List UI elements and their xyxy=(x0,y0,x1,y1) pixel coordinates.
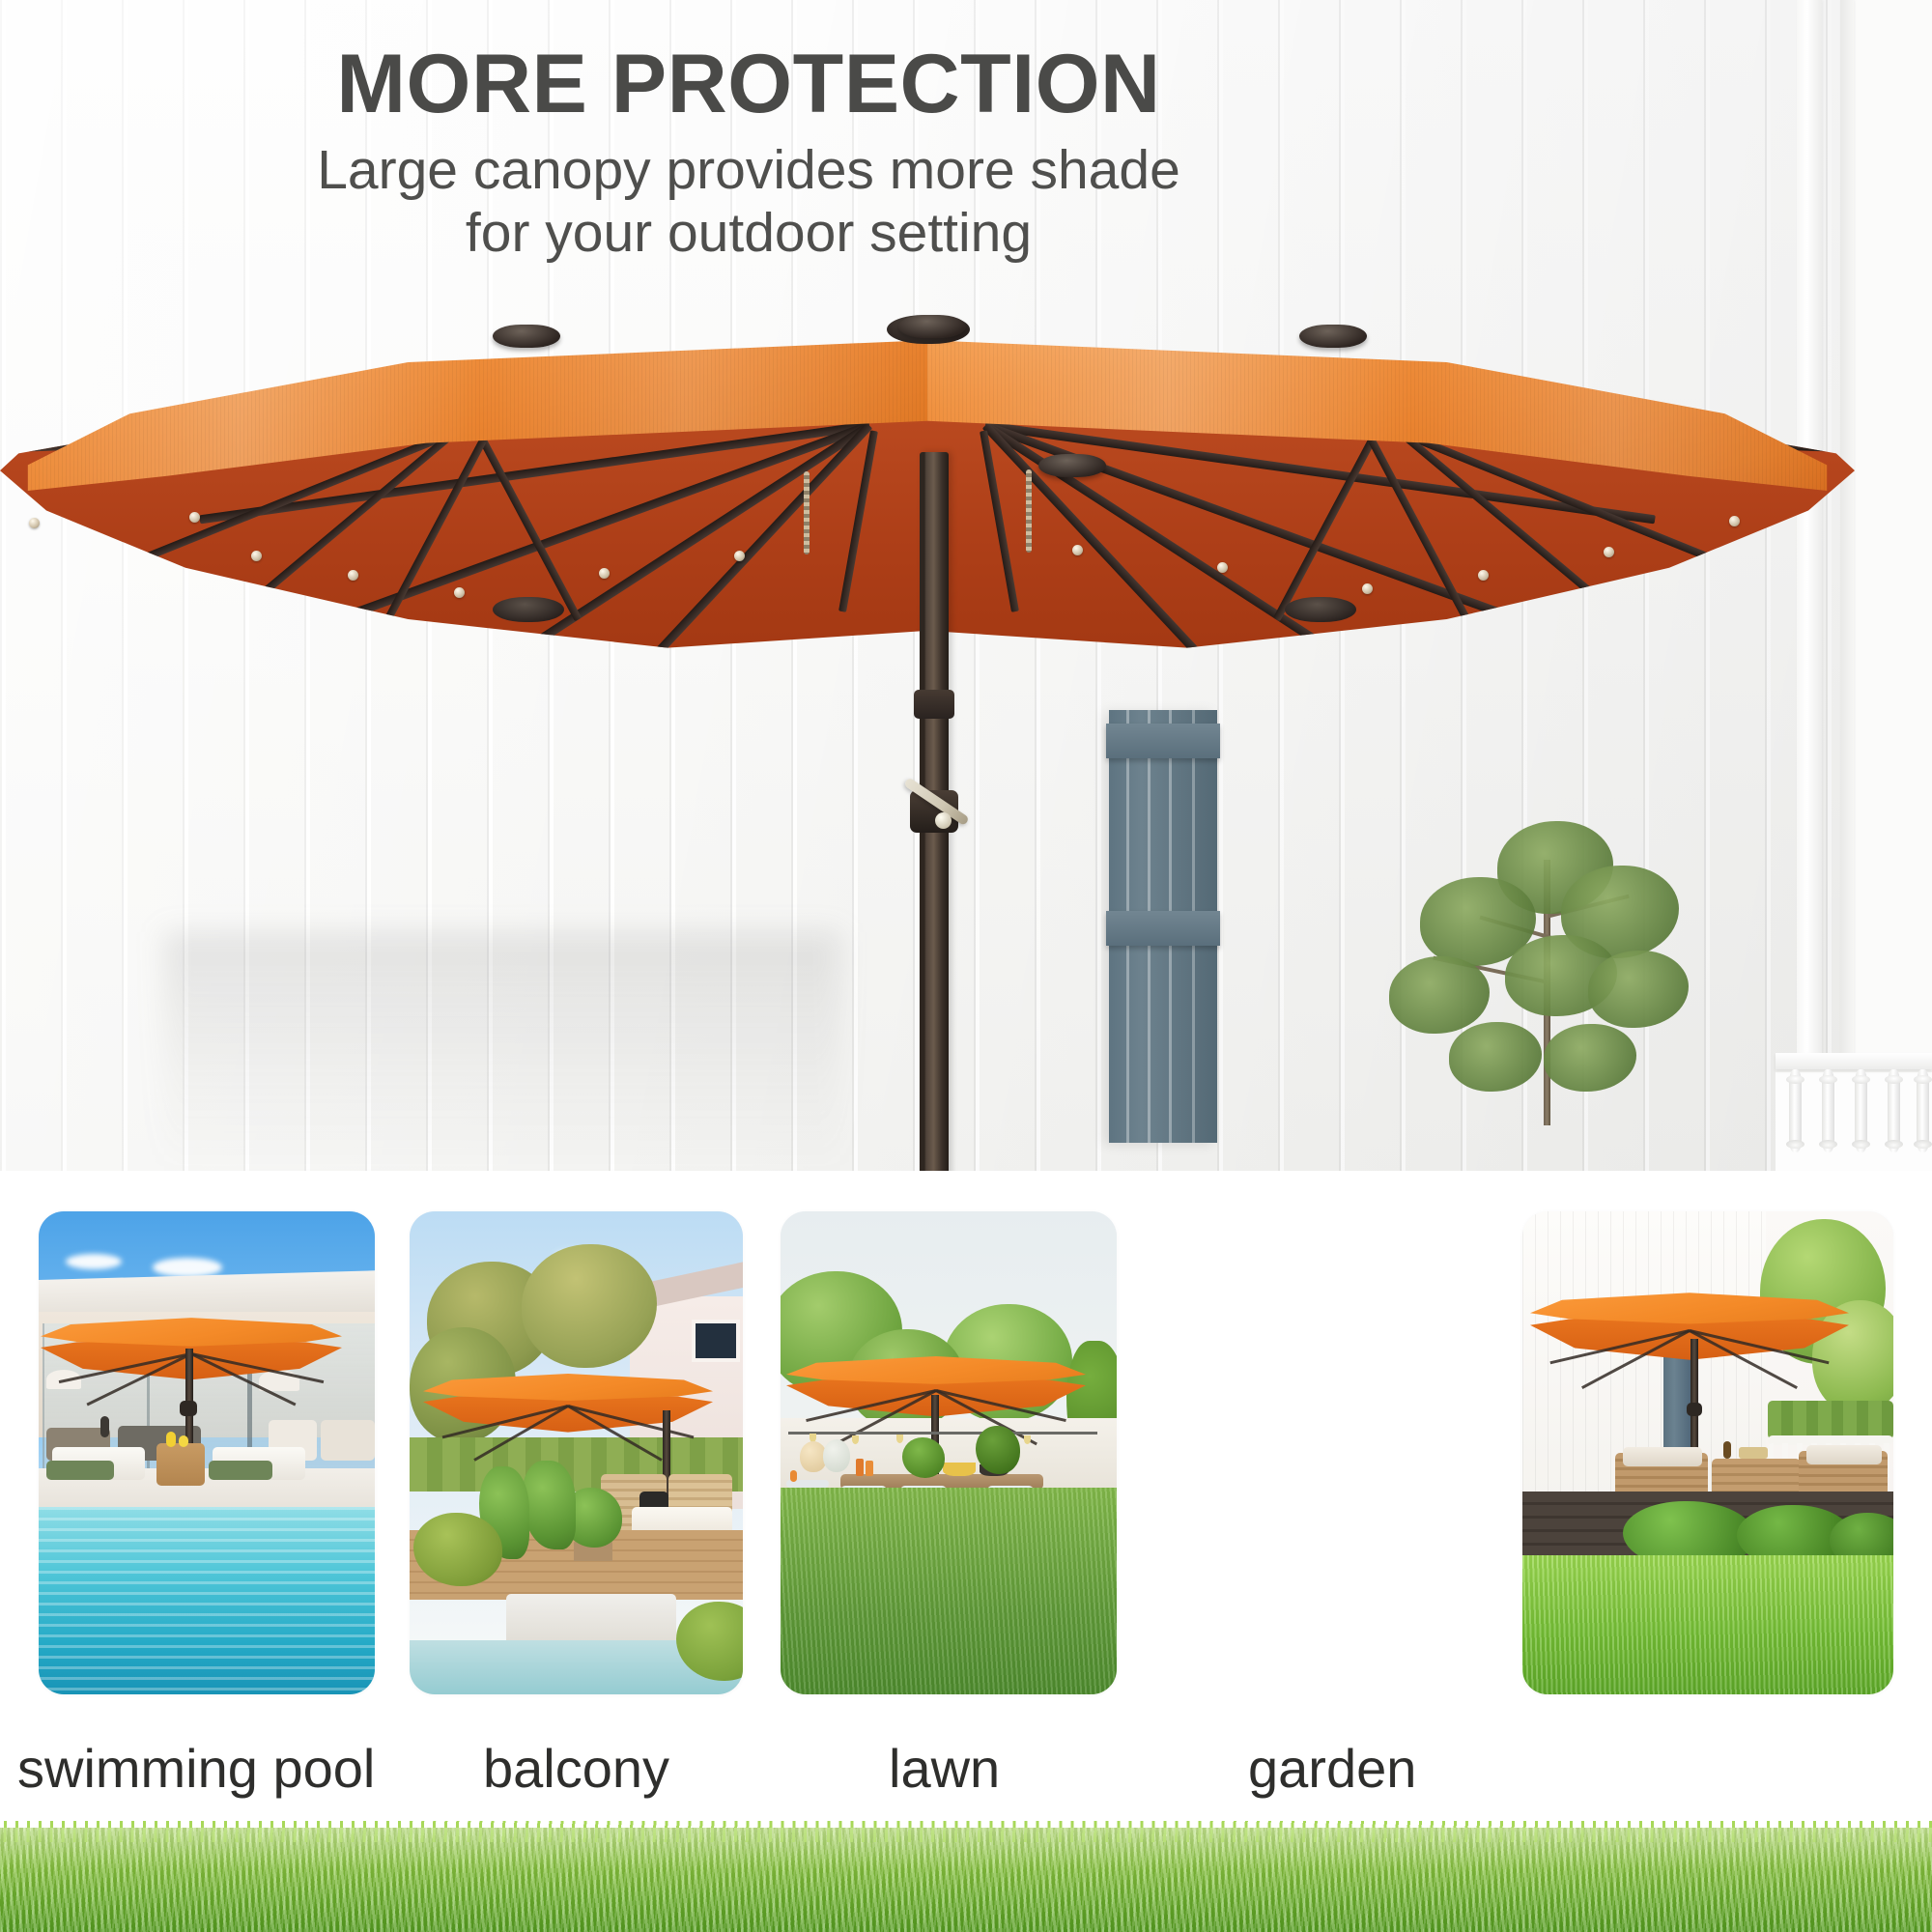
led-light xyxy=(1217,562,1228,573)
lawn-grass xyxy=(1522,1555,1893,1694)
bottle xyxy=(1723,1441,1731,1459)
subtitle-line-2: for your outdoor setting xyxy=(0,202,1497,265)
drink-glass xyxy=(166,1432,176,1447)
canopy-strut xyxy=(1368,439,1488,655)
led-light xyxy=(251,551,262,561)
house-window xyxy=(692,1320,740,1362)
subtitle-line-1: Large canopy provides more shade xyxy=(0,139,1497,202)
floor-lamp xyxy=(100,1416,109,1437)
caption-row: swimming pool balcony lawn garden xyxy=(0,1718,1932,1818)
balustrade-rail xyxy=(1776,1053,1932,1069)
sofa-cushion xyxy=(1806,1445,1882,1464)
drink-glass xyxy=(179,1435,188,1447)
solar-led-cap xyxy=(1299,325,1367,348)
canopy-right-lobe xyxy=(927,307,1855,694)
hero-section: MORE PROTECTION Large canopy provides mo… xyxy=(0,0,1932,1171)
product-umbrella xyxy=(1530,1291,1849,1366)
baluster xyxy=(1855,1069,1867,1152)
pole-joint xyxy=(914,690,954,719)
porch-balustrade xyxy=(1776,1053,1932,1171)
mini-crank xyxy=(180,1401,197,1416)
cart-bottle xyxy=(790,1470,797,1482)
gallery-item-balcony[interactable] xyxy=(410,1211,743,1694)
balloon xyxy=(823,1439,850,1472)
baluster xyxy=(1888,1069,1900,1152)
lavender-bush xyxy=(413,1513,502,1586)
led-light xyxy=(1072,545,1083,555)
cloud xyxy=(66,1254,122,1269)
patio-umbrella xyxy=(0,307,1855,945)
baluster xyxy=(1917,1069,1929,1152)
led-light xyxy=(1729,516,1740,526)
bottle xyxy=(866,1461,873,1476)
led-light xyxy=(29,518,40,528)
pool-water xyxy=(39,1507,375,1694)
led-light xyxy=(1478,570,1489,581)
gallery-item-lawn[interactable] xyxy=(781,1211,1117,1694)
canopy-rib-hub xyxy=(1285,597,1356,622)
caption-garden: garden xyxy=(1248,1718,1416,1818)
solar-led-cap xyxy=(1038,454,1106,477)
pull-cord xyxy=(804,471,810,554)
scene-gallery: swimming pool balcony lawn garden xyxy=(0,1171,1932,1818)
led-light xyxy=(189,512,200,523)
led-light xyxy=(1604,547,1614,557)
table-plant xyxy=(976,1426,1020,1474)
indoor-chair xyxy=(321,1420,375,1461)
cast-shadow xyxy=(164,932,840,1171)
serving-tray xyxy=(1739,1447,1768,1459)
string-light-wire xyxy=(788,1432,1097,1435)
solar-led-cap xyxy=(898,315,966,338)
tree-foliage xyxy=(1588,951,1689,1028)
led-light xyxy=(1362,583,1373,594)
crank-knob xyxy=(935,812,952,829)
pull-cord xyxy=(1026,469,1032,553)
page-title: MORE PROTECTION xyxy=(0,43,1497,126)
led-light xyxy=(454,587,465,598)
tree-foliage xyxy=(1449,1022,1542,1092)
solar-led-cap xyxy=(493,325,560,348)
caption-balcony: balcony xyxy=(483,1718,669,1818)
subtitle: Large canopy provides more shade for you… xyxy=(0,139,1497,265)
bottle xyxy=(856,1459,864,1476)
grass-footer-banner xyxy=(0,1828,1932,1932)
marketing-image: MORE PROTECTION Large canopy provides mo… xyxy=(0,0,1932,1932)
canopy-rib-hub xyxy=(493,597,564,622)
canopy-strut xyxy=(366,439,486,655)
string-light-bulb xyxy=(896,1435,903,1443)
string-light-bulb xyxy=(1024,1435,1031,1444)
caption-swimming-pool: swimming pool xyxy=(17,1718,375,1818)
gallery-item-swimming-pool[interactable] xyxy=(39,1211,375,1694)
mini-crank xyxy=(1687,1403,1702,1416)
hedge xyxy=(1768,1401,1893,1439)
led-light xyxy=(599,568,610,579)
lounger-throw xyxy=(46,1461,114,1480)
canopy-left-lobe xyxy=(0,307,927,694)
sofa-cushion xyxy=(1623,1447,1702,1466)
side-table xyxy=(156,1443,205,1486)
headline-block: MORE PROTECTION Large canopy provides mo… xyxy=(0,43,1497,265)
table-plant xyxy=(902,1437,945,1478)
lounger-throw xyxy=(209,1461,272,1480)
tree-foliage xyxy=(1389,956,1490,1034)
background-foliage xyxy=(1854,0,1932,1053)
baluster xyxy=(1789,1069,1802,1152)
string-light-bulb xyxy=(852,1435,859,1444)
caption-lawn: lawn xyxy=(889,1718,1000,1818)
tree-foliage xyxy=(1544,1024,1636,1092)
led-light xyxy=(348,570,358,581)
baluster xyxy=(1822,1069,1834,1152)
fruit-bowl xyxy=(943,1463,976,1476)
led-light xyxy=(734,551,745,561)
lawn-grass xyxy=(781,1488,1117,1694)
gallery-item-garden[interactable] xyxy=(1522,1211,1893,1694)
